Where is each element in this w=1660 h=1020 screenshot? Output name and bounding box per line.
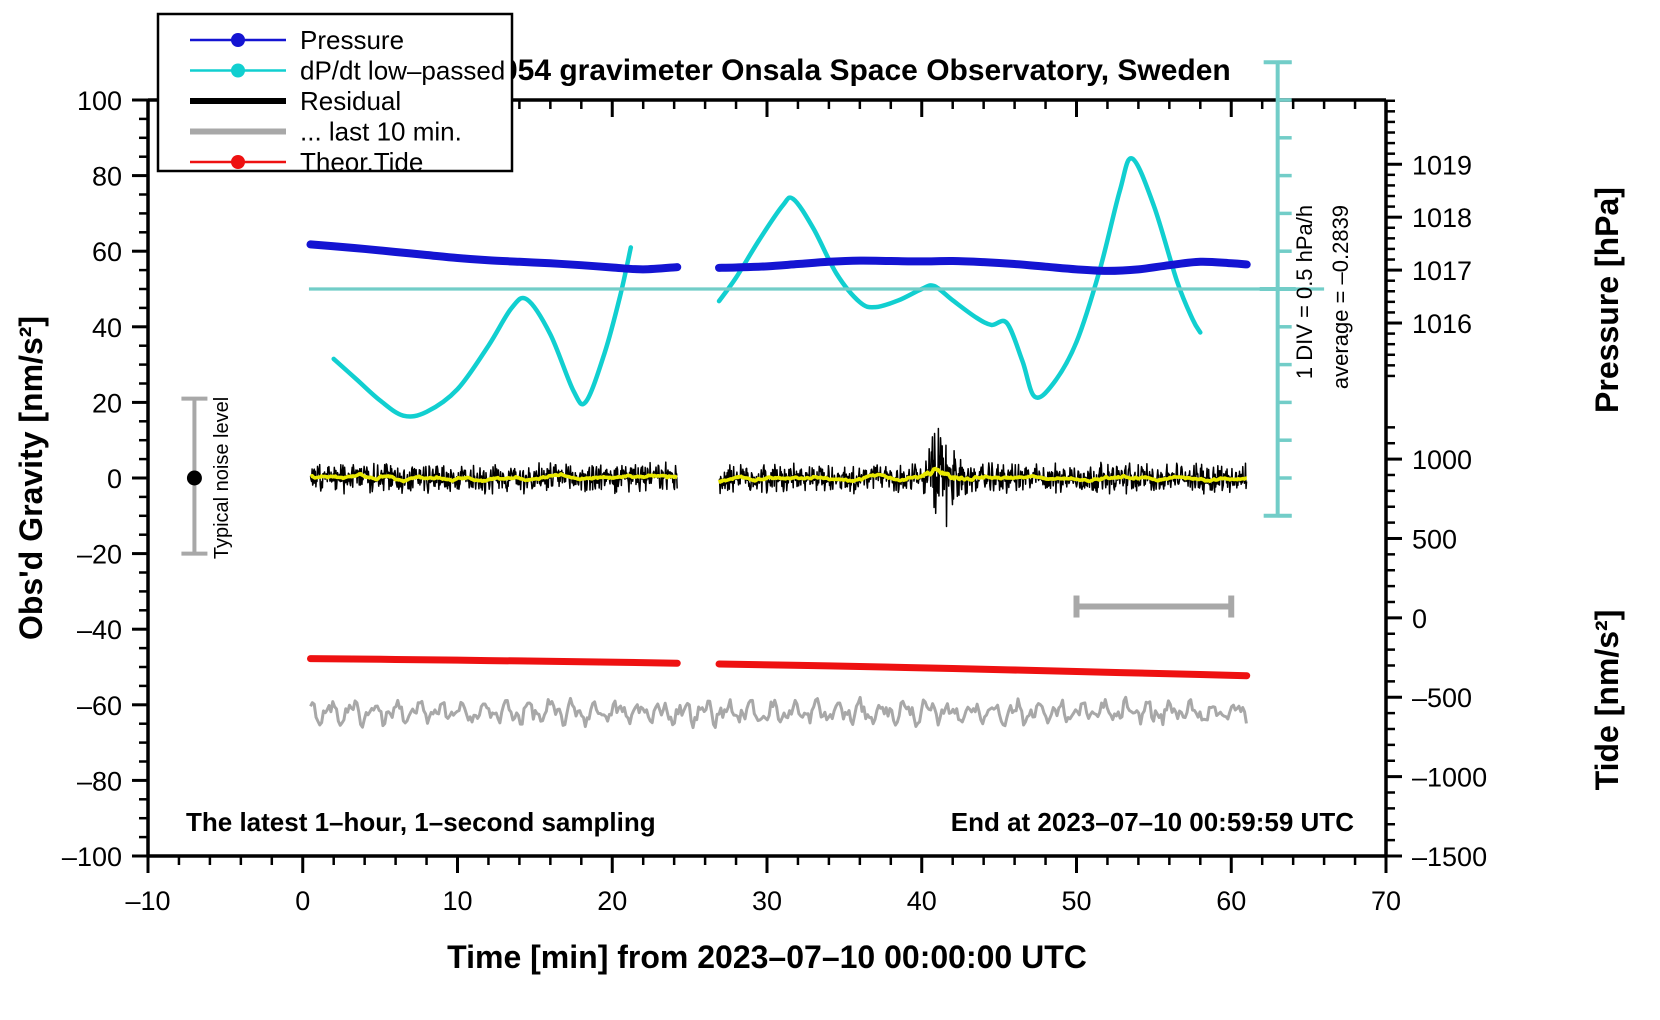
tide-tick-label: 1000 (1412, 445, 1472, 475)
legend-item-label: ... last 10 min. (300, 117, 462, 147)
y-tick-label: –60 (77, 691, 122, 721)
y-tick-label: 0 (107, 464, 122, 494)
x-tick-label: 40 (907, 886, 937, 916)
gravimeter-chart-figure: –100–80–60–40–20020406080100 –1001020304… (0, 0, 1660, 1020)
tide-tick-label: 500 (1412, 524, 1457, 554)
tide-tick-label: –500 (1412, 683, 1472, 713)
footer-right-note: End at 2023–07–10 00:59:59 UTC (951, 807, 1354, 837)
legend-item-label: Residual (300, 86, 401, 116)
legend-item-label: dP/dt low–passed (300, 56, 505, 86)
y-tick-label: –80 (77, 766, 122, 796)
tide-tick-label: –1000 (1412, 763, 1487, 793)
x-axis-title: Time [min] from 2023–07–10 00:00:00 UTC (447, 939, 1087, 975)
legend-item-label: Theor.Tide (300, 147, 423, 177)
legend-item-label: Pressure (300, 25, 404, 55)
dpdt-div-label: 1 DIV = 0.5 hPa/h (1292, 205, 1317, 379)
tide-tick-label: 0 (1412, 604, 1427, 634)
y-tick-label: –20 (77, 540, 122, 570)
x-tick-label: 20 (597, 886, 627, 916)
legend: PressuredP/dt low–passedResidual... last… (158, 14, 512, 177)
dpdt-average-label: average = –0.2839 (1328, 205, 1353, 389)
y-tick-label: –40 (77, 615, 122, 645)
x-tick-label: 60 (1216, 886, 1246, 916)
x-tick-label: 0 (295, 886, 310, 916)
pressure-tick-label: 1018 (1412, 203, 1472, 233)
theoretical-tide-trace (310, 659, 677, 664)
tide-tick-label: –1500 (1412, 842, 1487, 872)
chart-svg: –100–80–60–40–20020406080100 –1001020304… (0, 0, 1660, 1020)
legend-swatch-marker (231, 33, 245, 47)
typical-noise-level-label: Typical noise level (211, 397, 233, 559)
pressure-tick-label: 1017 (1412, 256, 1472, 286)
x-tick-label: –10 (125, 886, 170, 916)
legend-swatch-marker (231, 64, 245, 78)
y-axis-title-tide: Tide [nm/s²] (1589, 610, 1625, 791)
y-tick-label: 60 (92, 237, 122, 267)
footer-left-note: The latest 1–hour, 1–second sampling (186, 807, 656, 837)
chart-title: SCG_054 gravimeter Onsala Space Observat… (419, 54, 1231, 87)
y-axis-title-pressure: Pressure [hPa] (1589, 187, 1625, 413)
x-tick-label: 50 (1061, 886, 1091, 916)
noise-level-center-dot (187, 471, 202, 486)
x-tick-label: 10 (442, 886, 472, 916)
legend-swatch-marker (231, 155, 245, 169)
y-tick-label: –100 (62, 842, 122, 872)
y-tick-label: 20 (92, 388, 122, 418)
y-tick-label: 80 (92, 162, 122, 192)
x-tick-label: 30 (752, 886, 782, 916)
pressure-tick-label: 1016 (1412, 309, 1472, 339)
y-tick-label: 100 (77, 86, 122, 116)
x-tick-label: 70 (1371, 886, 1401, 916)
y-tick-label: 40 (92, 313, 122, 343)
y-axis-title-gravity: Obs'd Gravity [nm/s²] (13, 316, 49, 640)
pressure-tick-label: 1019 (1412, 150, 1472, 180)
